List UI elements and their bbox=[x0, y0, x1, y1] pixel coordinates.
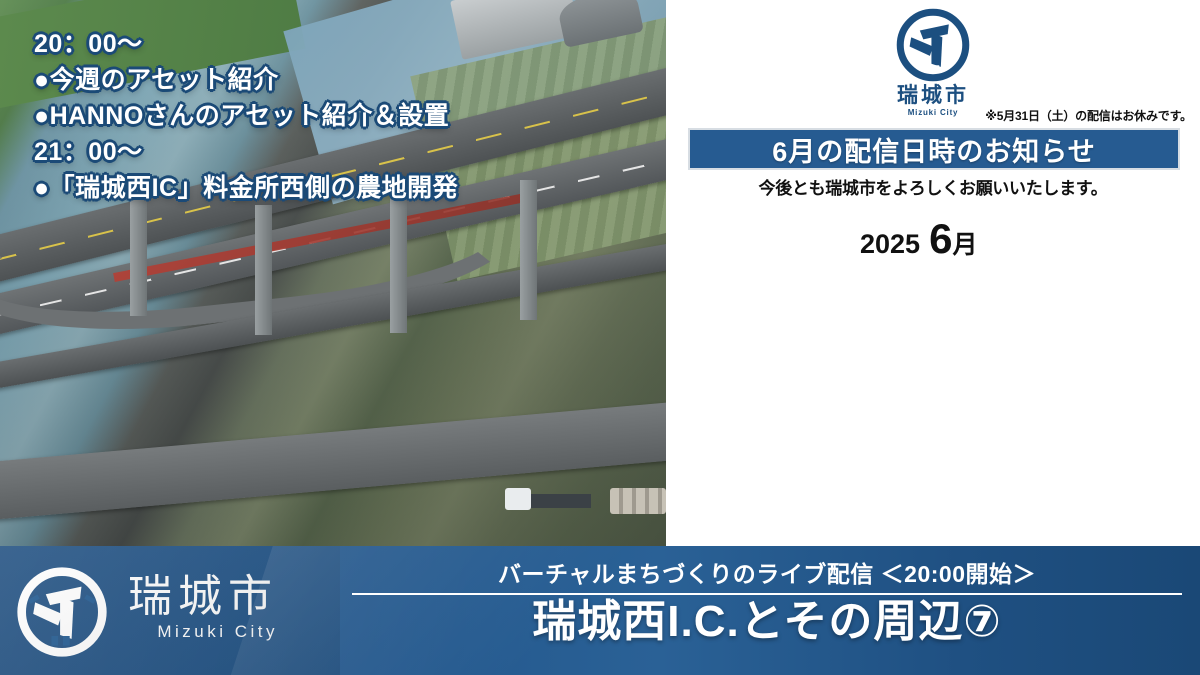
notice-panel: 瑞城市 Mizuki City ※5月31日（土）の配信はお休みです。 6月の配… bbox=[666, 0, 1200, 546]
banner-title: 瑞城西I.C.とその周辺⑦ bbox=[352, 597, 1182, 646]
logo-name-jp: 瑞城市 bbox=[666, 85, 1200, 106]
banner-divider bbox=[352, 593, 1182, 595]
calendar-month-suffix: 月 bbox=[952, 225, 977, 261]
banner-text-block: バーチャルまちづくりのライブ配信 ＜20:00開始＞ 瑞城西I.C.とその周辺⑦ bbox=[352, 560, 1182, 646]
schedule-line: 20：00〜 bbox=[34, 26, 654, 62]
bottom-banner: 瑞城市 Mizuki City バーチャルまちづくりのライブ配信 ＜20:00開… bbox=[0, 546, 1200, 675]
notice-title-band: 6月の配信日時のお知らせ bbox=[688, 128, 1180, 170]
mizuki-city-logo: 瑞城市 Mizuki City bbox=[666, 6, 1200, 117]
schedule-line: ●「瑞城西IC」料金所西側の農地開発 bbox=[34, 170, 654, 206]
bridge-pier bbox=[255, 205, 272, 335]
banner-subtitle: バーチャルまちづくりのライブ配信 ＜20:00開始＞ bbox=[352, 560, 1182, 589]
mizuki-mark-icon bbox=[14, 564, 110, 660]
banner-city-block: 瑞城市 Mizuki City bbox=[128, 574, 278, 642]
mizuki-mark-icon bbox=[894, 6, 972, 84]
bridge-pier bbox=[130, 196, 147, 316]
calendar-month-title: 2025 6 月 bbox=[860, 218, 977, 261]
notice-title-text: 6月の配信日時のお知らせ bbox=[772, 130, 1095, 169]
schedule-overlay: 20：00〜 ●今週のアセット紹介 ●HANNOさんのアセット紹介＆設置 21：… bbox=[34, 26, 654, 206]
notice-sub-message: 今後とも瑞城市をよろしくお願いいたします。 bbox=[666, 174, 1200, 199]
bridge-pier bbox=[390, 198, 407, 333]
calendar-month: 6 bbox=[929, 218, 952, 260]
holiday-note: ※5月31日（土）の配信はお休みです。 bbox=[985, 107, 1192, 124]
screenshot-root: 20：00〜 ●今週のアセット紹介 ●HANNOさんのアセット紹介＆設置 21：… bbox=[0, 0, 1200, 675]
schedule-line: 21：00〜 bbox=[34, 134, 654, 170]
schedule-line: ●今週のアセット紹介 bbox=[34, 62, 654, 98]
pipe-stack bbox=[610, 488, 666, 514]
banner-city-en: Mizuki City bbox=[128, 622, 278, 642]
banner-city-jp: 瑞城市 bbox=[128, 574, 278, 620]
calendar-year: 2025 bbox=[860, 229, 920, 260]
schedule-line: ●HANNOさんのアセット紹介＆設置 bbox=[34, 98, 654, 134]
construction-truck bbox=[505, 486, 591, 512]
